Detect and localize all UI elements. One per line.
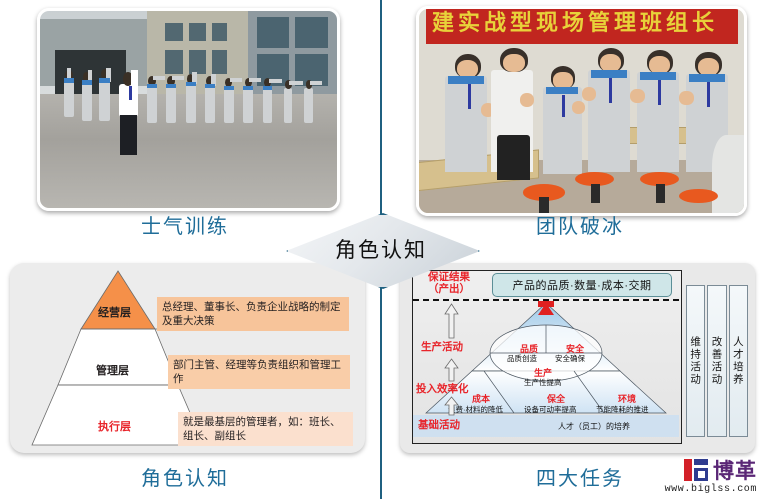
side-activity-columns: 维持活动 改善活动 人才培养 <box>686 285 748 437</box>
slide-canvas: 士气训练 建实战型现场管理班组长 <box>0 0 763 499</box>
divider-vertical-bottom <box>380 283 382 499</box>
photo-team-icebreaker: 建实战型现场管理班组长 <box>416 6 747 216</box>
cell-quality-sub: 品质创造 <box>507 353 537 364</box>
caption-role-cognition: 角色认知 <box>60 462 310 491</box>
label-guaranteed-result: 保证结果 （产出） <box>421 271 477 295</box>
pyramid-level-3-label: 执行层 <box>98 418 131 434</box>
brand-logo: 博革 www.biglss.com <box>665 455 757 495</box>
up-arrow-icon-3 <box>444 396 459 416</box>
side-column-maintain: 维持活动 <box>686 285 705 437</box>
panel-four-tasks: 品质 品质创造 安全 安全确保 生产 生产性提高 成本 浪费·材料的降低 保全 … <box>400 263 755 453</box>
output-box: 产品的品质·数量·成本·交期 <box>492 273 672 297</box>
caption-morale-training: 士气训练 <box>60 210 310 239</box>
logo-mark-icon <box>683 457 709 483</box>
up-arrow-icon-2 <box>444 358 459 382</box>
photo-morale-training <box>37 8 340 211</box>
divider-vertical-top <box>380 0 382 218</box>
caption-team-icebreaker: 团队破冰 <box>450 210 710 239</box>
side-column-talent: 人才培养 <box>729 285 748 437</box>
pyramid-level-3-desc: 就是最基层的管理者，如：班长、组长、副组长 <box>178 412 353 446</box>
label-input-efficiency: 投入效率化 <box>416 383 482 395</box>
cell-maintenance-sub: 设备可动率提高 <box>524 404 577 415</box>
cell-production-sub: 生产性提高 <box>524 377 562 388</box>
pyramid-level-1-label: 经营层 <box>98 304 131 320</box>
logo-url-text: www.biglss.com <box>665 484 757 495</box>
base-band-label: 人才（员工）的培养 <box>558 421 630 432</box>
pyramid-level-2-label: 管理层 <box>96 362 129 378</box>
dashed-separator <box>413 299 679 301</box>
photo2-banner-text: 建实战型现场管理班组长 <box>432 6 731 44</box>
label-production-activity: 生产活动 <box>421 341 479 353</box>
pyramid-level-1-desc: 总经理、董事长、负责企业战略的制定及重大决策 <box>157 297 349 331</box>
cell-environment-sub: 节能降耗的推进 <box>596 404 649 415</box>
pyramid-level-2-desc: 部门主管、经理等负责组织和管理工作 <box>168 355 350 389</box>
cell-safety-sub: 安全确保 <box>555 353 585 364</box>
label-basic-activity: 基础活动 <box>418 419 474 431</box>
up-arrow-icon-1 <box>444 303 459 339</box>
side-column-improve: 改善活动 <box>707 285 726 437</box>
logo-brand-text: 博革 <box>713 455 757 485</box>
